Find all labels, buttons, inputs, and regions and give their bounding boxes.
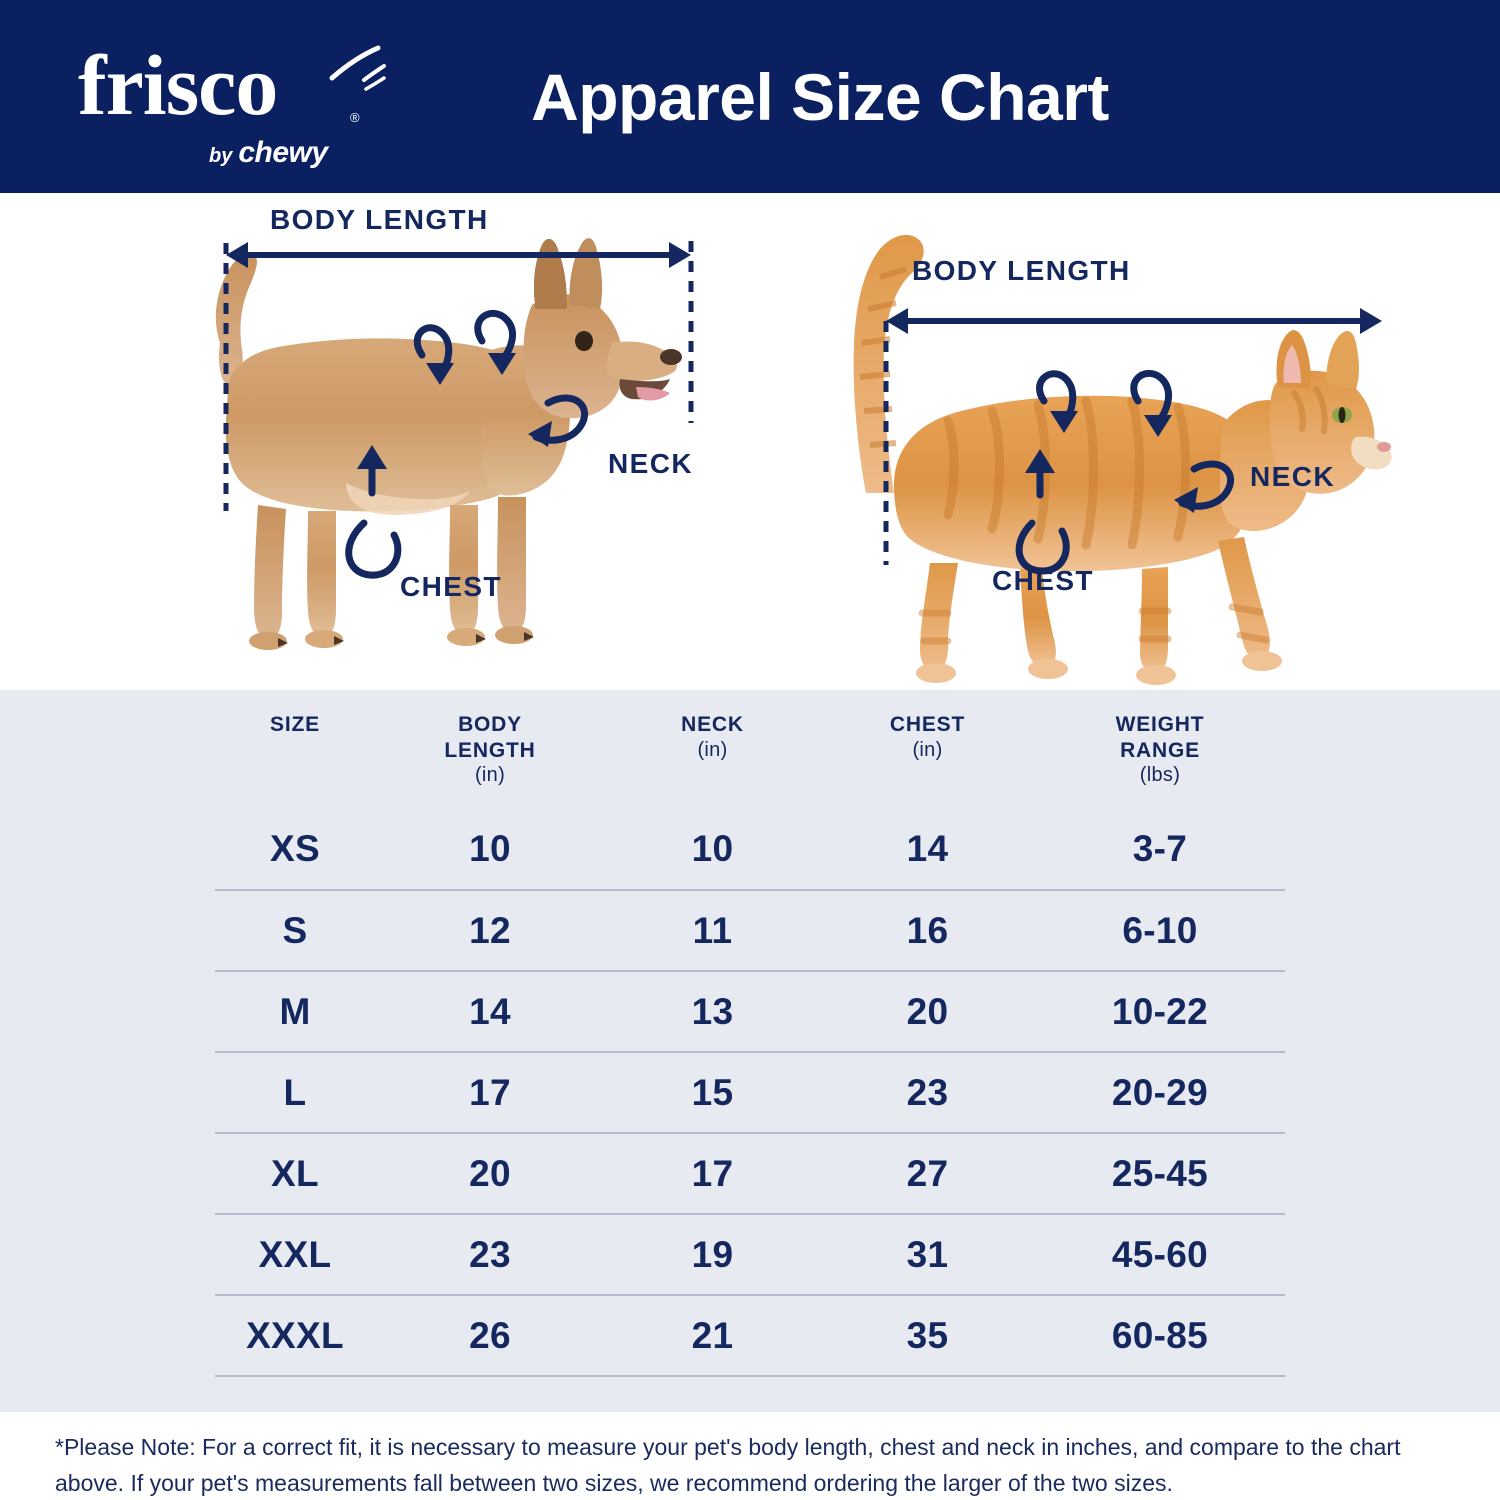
cat-body-length-arrow	[886, 308, 1382, 334]
size-table: SIZE BODY LENGTH (in) NECK (in) CHEST (i…	[215, 690, 1285, 1377]
column-header-chest-line1: CHEST	[890, 712, 965, 738]
size-table-area: SIZE BODY LENGTH (in) NECK (in) CHEST (i…	[0, 690, 1500, 1412]
page-title: Apparel Size Chart	[0, 0, 1500, 193]
cell-neck: 11	[605, 910, 820, 952]
cat-chest-label: CHEST	[992, 565, 1094, 597]
cell-body-length: 20	[375, 1153, 605, 1195]
cell-body-length: 14	[375, 991, 605, 1033]
table-row: XXL 23 19 31 45-60	[215, 1213, 1285, 1294]
dog-body-length-arrow	[226, 242, 691, 268]
column-header-weight-range: WEIGHT RANGE (lbs)	[1035, 712, 1285, 808]
cat-neck-label: NECK	[1250, 461, 1335, 493]
cell-body-length: 12	[375, 910, 605, 952]
cell-size: XXXL	[215, 1315, 375, 1357]
dog-chest-label: CHEST	[400, 571, 502, 603]
cell-weight-range: 10-22	[1035, 991, 1285, 1033]
dog-illustration	[150, 193, 770, 690]
cell-size: M	[215, 991, 375, 1033]
column-header-body-length-line1: BODY	[458, 712, 522, 738]
dog-neck-label: NECK	[608, 448, 693, 480]
column-header-weight-range-line1: WEIGHT	[1116, 712, 1205, 738]
table-row: XS 10 10 14 3-7	[215, 808, 1285, 889]
cell-chest: 35	[820, 1315, 1035, 1357]
cell-chest: 23	[820, 1072, 1035, 1114]
cell-chest: 27	[820, 1153, 1035, 1195]
cell-weight-range: 6-10	[1035, 910, 1285, 952]
cat-measurement-diagram: BODY LENGTH NECK CHEST	[770, 193, 1410, 690]
cell-weight-range: 20-29	[1035, 1072, 1285, 1114]
cat-body-length-label: BODY LENGTH	[912, 255, 1131, 287]
table-row: M 14 13 20 10-22	[215, 970, 1285, 1051]
cell-chest: 20	[820, 991, 1035, 1033]
table-body: XS 10 10 14 3-7 S 12 11 16 6-10 M 14 13	[215, 808, 1285, 1377]
cell-neck: 15	[605, 1072, 820, 1114]
header-band: frisco ® by chewy Apparel Size Chart	[0, 0, 1500, 193]
dog-body-length-label: BODY LENGTH	[270, 204, 489, 236]
cell-size: XXL	[215, 1234, 375, 1276]
cell-weight-range: 25-45	[1035, 1153, 1285, 1195]
cell-chest: 14	[820, 828, 1035, 870]
please-note-text: *Please Note: For a correct fit, it is n…	[55, 1430, 1445, 1500]
illustration-area: BODY LENGTH NECK CHEST	[0, 193, 1500, 690]
cell-chest: 16	[820, 910, 1035, 952]
column-header-weight-range-unit: (lbs)	[1140, 763, 1180, 787]
cell-size: XS	[215, 828, 375, 870]
column-header-body-length-unit: (in)	[475, 763, 505, 787]
column-header-chest: CHEST (in)	[820, 712, 1035, 808]
cell-chest: 31	[820, 1234, 1035, 1276]
column-header-neck-unit: (in)	[697, 738, 727, 762]
apparel-size-chart-page: frisco ® by chewy Apparel Size Chart	[0, 0, 1500, 1500]
column-header-body-length: BODY LENGTH (in)	[375, 712, 605, 808]
cell-size: S	[215, 910, 375, 952]
table-row: S 12 11 16 6-10	[215, 889, 1285, 970]
cell-weight-range: 45-60	[1035, 1234, 1285, 1276]
cell-neck: 17	[605, 1153, 820, 1195]
column-header-body-length-line2: LENGTH	[444, 738, 535, 764]
table-row: XXXL 26 21 35 60-85	[215, 1294, 1285, 1375]
cell-body-length: 17	[375, 1072, 605, 1114]
cell-size: L	[215, 1072, 375, 1114]
table-row: XL 20 17 27 25-45	[215, 1132, 1285, 1213]
column-header-neck: NECK (in)	[605, 712, 820, 808]
cell-neck: 21	[605, 1315, 820, 1357]
column-header-size-line1: SIZE	[270, 712, 320, 738]
cell-weight-range: 3-7	[1035, 828, 1285, 870]
column-header-neck-line1: NECK	[681, 712, 744, 738]
cell-weight-range: 60-85	[1035, 1315, 1285, 1357]
column-header-weight-range-line2: RANGE	[1120, 738, 1200, 764]
dog-measurement-diagram: BODY LENGTH NECK CHEST	[150, 193, 770, 690]
cell-body-length: 23	[375, 1234, 605, 1276]
cell-body-length: 26	[375, 1315, 605, 1357]
column-header-chest-unit: (in)	[912, 738, 942, 762]
column-header-size: SIZE	[215, 712, 375, 808]
cell-body-length: 10	[375, 828, 605, 870]
cell-neck: 13	[605, 991, 820, 1033]
table-row: L 17 15 23 20-29	[215, 1051, 1285, 1132]
table-header-row: SIZE BODY LENGTH (in) NECK (in) CHEST (i…	[215, 690, 1285, 808]
cell-neck: 10	[605, 828, 820, 870]
cell-size: XL	[215, 1153, 375, 1195]
footer-area: *Please Note: For a correct fit, it is n…	[0, 1412, 1500, 1500]
cell-neck: 19	[605, 1234, 820, 1276]
